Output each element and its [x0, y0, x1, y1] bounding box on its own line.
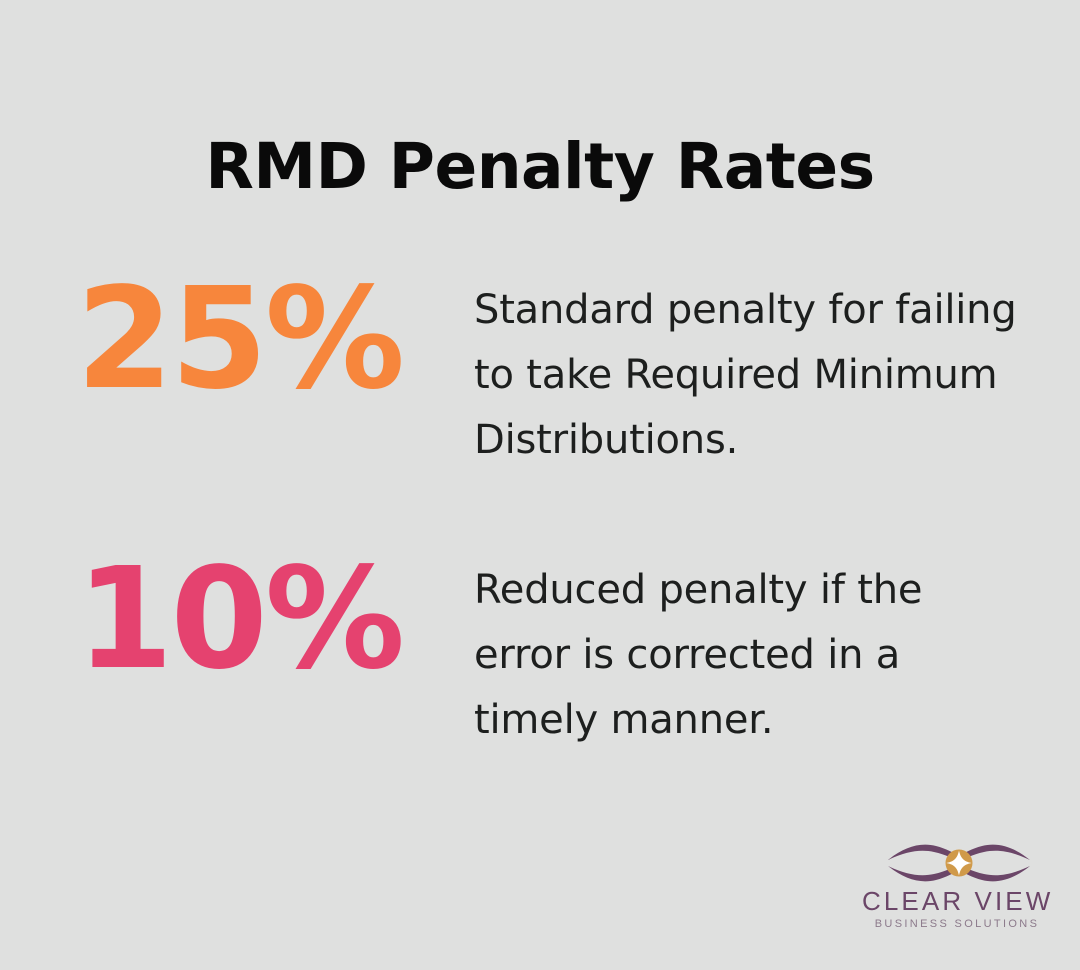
eye-star-icon: [884, 840, 1034, 886]
brand-logo: CLEAR VIEW BUSINESS SOLUTIONS: [862, 840, 1052, 944]
stat-figure-percent: 10%: [76, 548, 474, 690]
stat-row: 10% Reduced penalty if the error is corr…: [76, 548, 1024, 754]
logo-tagline: BUSINESS SOLUTIONS: [862, 918, 1052, 930]
page-title: RMD Penalty Rates: [0, 134, 1080, 200]
stat-description: Reduced penalty if the error is correcte…: [474, 548, 1024, 754]
logo-wordmark: CLEAR VIEW: [862, 886, 1052, 917]
stat-description: Standard penalty for failing to take Req…: [474, 268, 1024, 474]
stat-row: 25% Standard penalty for failing to take…: [76, 268, 1024, 474]
infographic-canvas: RMD Penalty Rates 25% Standard penalty f…: [0, 0, 1080, 970]
stat-figure-percent: 25%: [76, 268, 474, 410]
